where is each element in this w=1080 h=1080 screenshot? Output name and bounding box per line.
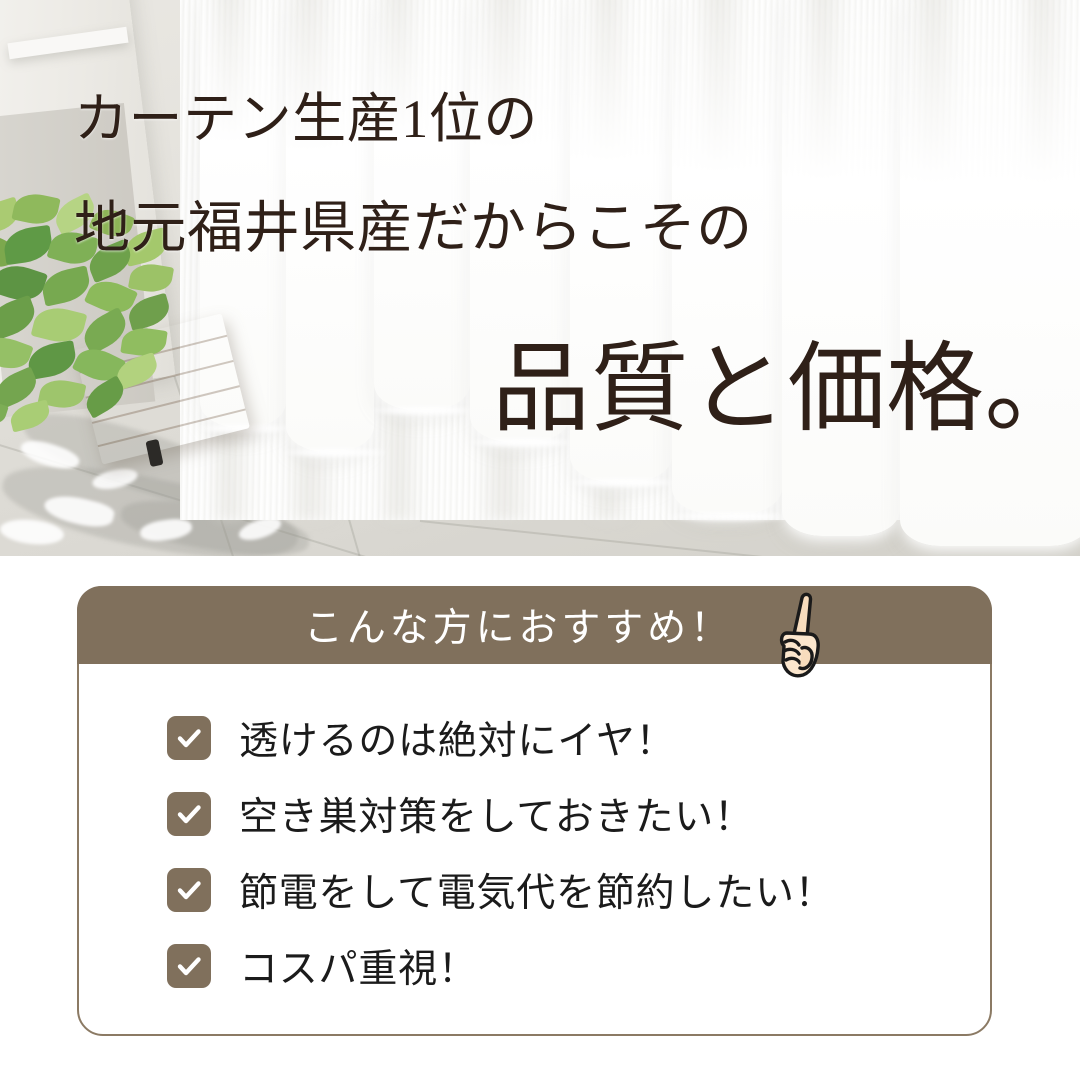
curtain-hem xyxy=(900,0,1080,546)
hem-light xyxy=(282,448,388,457)
list-item[interactable]: 節電をして電気代を節約したい！ xyxy=(167,852,990,928)
list-item[interactable]: 透けるのは絶対にイヤ！ xyxy=(167,700,990,776)
recommend-card-header: こんな方におすすめ！ xyxy=(77,586,992,664)
list-item-label: 透けるのは絶対にイヤ！ xyxy=(239,710,675,766)
list-item-label: コスパ重視！ xyxy=(239,938,478,994)
hero-photo: カーテン生産1位の 地元福井県産だからこその 品質と価格。 xyxy=(0,0,1080,556)
list-item-label: 節電をして電気代を節約したい！ xyxy=(239,862,835,918)
list-item[interactable]: 空き巣対策をしておきたい！ xyxy=(167,776,990,852)
recommend-card: こんな方におすすめ！ 透けるのは絶対にイヤ！ 空き巣対策をしておきたい！ xyxy=(77,586,992,1036)
checkbox-checked-icon xyxy=(167,868,211,912)
promo-page: カーテン生産1位の 地元福井県産だからこその 品質と価格。 こんな方におすすめ！… xyxy=(0,0,1080,1080)
curtain-hem xyxy=(782,0,900,536)
hero-headline-line3: 品質と価格。 xyxy=(492,309,1080,451)
list-item[interactable]: コスパ重視！ xyxy=(167,928,990,1004)
recommend-list: 透けるのは絶対にイヤ！ 空き巣対策をしておきたい！ 節電をして電気代を節約したい… xyxy=(79,666,990,1004)
list-item-label: 空き巣対策をしておきたい！ xyxy=(239,786,754,842)
pointing-up-hand-icon xyxy=(772,588,834,684)
checkbox-checked-icon xyxy=(167,944,211,988)
checkbox-checked-icon xyxy=(167,716,211,760)
recommend-card-title: こんな方におすすめ！ xyxy=(304,597,733,653)
hem-light xyxy=(566,478,686,487)
hero-headline-line1: カーテン生産1位の xyxy=(74,74,538,153)
checkbox-checked-icon xyxy=(167,792,211,836)
hero-headline-line2: 地元福井県産だからこその xyxy=(74,183,753,264)
hem-light xyxy=(370,406,484,415)
hem-light xyxy=(668,512,796,521)
